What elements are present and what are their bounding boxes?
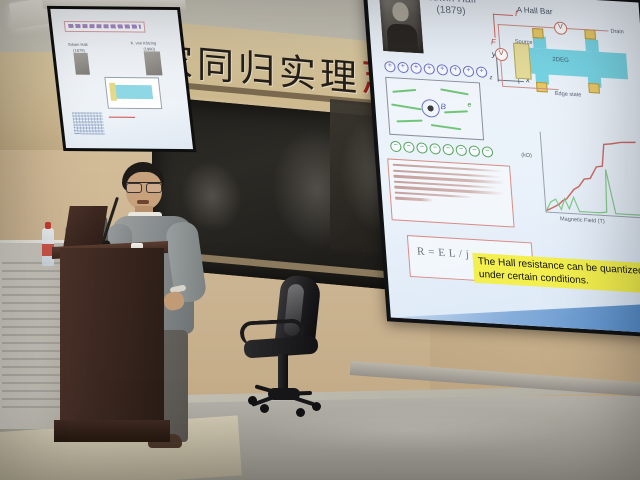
slide-label-right-year: (1980) [143,46,155,51]
source-label: Source [515,39,533,46]
screen-surface: Edwin Hall (1879) K. von Klitzing (1980) [50,9,193,149]
graph-x-label: Magnetic Field (T) [560,216,605,225]
slide-grid-diagram [72,112,105,134]
chair-caster [312,402,321,411]
slide-label-left-name: Edwin Hall [68,42,88,47]
glasses-icon [126,182,162,191]
lectern[interactable] [60,248,164,436]
voltmeter-x: V [494,48,508,62]
cabinet-vent-grille [2,262,64,408]
hall-bar-diagram: 2DEG V V Source Drain [487,11,640,116]
screen-frame: Edwin Hall (1879) K. von Klitzing (1980) [47,6,197,152]
chair-caster [260,404,269,413]
edwin-hall-portrait [379,0,424,53]
electron-label: e [467,102,471,109]
edge-state-label: Edge state [555,91,582,99]
secondary-projection-screen: Edwin Hall (1879) K. von Klitzing (1980) [47,6,197,158]
presenter-mouth [137,200,149,204]
explanatory-text-box [387,158,514,227]
graph-plot-area [540,132,640,218]
highlight-callout: The Hall resistance can be quantized und… [472,253,640,295]
chair-caster [296,408,305,417]
lorentz-force-diagram: ++++ ++++ B e −−−− −−−− [380,61,496,159]
slide-portrait-right [144,51,163,75]
source-contact [513,43,532,80]
positive-charge-row: ++++ ++++ [384,61,488,78]
slide-2deg-region [111,85,153,99]
main-screen-frame: Edwin Hall (1879) A Hall Bar ++++ ++++ [362,0,640,338]
drain-label: Drain [610,29,624,36]
chair-caster [248,396,257,405]
two-deg-label: 2DEG [552,57,569,64]
main-screen-surface: Edwin Hall (1879) A Hall Bar ++++ ++++ [367,0,640,334]
podium-base [54,420,170,442]
voltmeter-hall: V [554,21,568,35]
graph-y-label: (kΩ) [521,152,532,159]
office-chair[interactable] [236,276,348,426]
current-symbol: I [518,79,520,86]
b-field-label: B [440,102,446,111]
slide-portrait-left [73,53,90,75]
slide-label-left-year: (1879) [73,48,85,53]
graph-svg [541,132,640,217]
contact-pad [532,28,544,39]
slide-title-box [64,21,146,33]
quantum-hall-graph: (kΩ) Magnetic Field (T) ρ [519,123,640,240]
portrait-year: (1879) [436,4,466,17]
main-projection-screen: Edwin Hall (1879) A Hall Bar ++++ ++++ [362,0,640,348]
contact-pad [588,83,600,94]
negative-charge-row: −−−− −−−− [390,141,494,158]
slide-red-line [109,117,135,118]
slide-label-right-name: K. von Klitzing [130,40,156,45]
lecture-hall-photo: 家同归实理志 Edwin Hall (1879) K. von Klitzing… [0,0,640,480]
